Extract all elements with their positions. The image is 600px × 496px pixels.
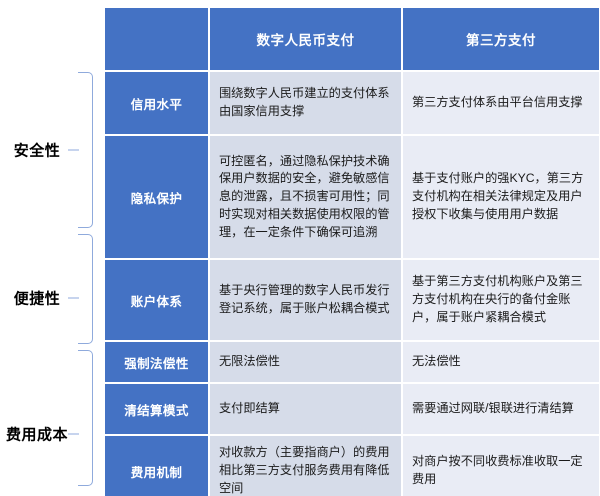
table-row: 隐私保护 可控匿名，通过隐私保护技术确保用户数据的安全，避免敏感信息的泄露，且不…	[105, 136, 599, 258]
row-key-credit-level: 信用水平	[105, 72, 208, 134]
table-header-corner	[105, 8, 208, 70]
row-value-dcep: 对收款方（主要指商户）的费用相比第三方支付服务费用有降低空间	[210, 436, 401, 496]
bracket-convenience	[78, 234, 93, 344]
row-value-dcep: 无限法偿性	[210, 342, 401, 382]
comparison-table: 数字人民币支付 第三方支付 信用水平 围绕数字人民币建立的支付体系由国家信用支撑…	[103, 6, 600, 496]
row-value-thirdparty: 无法偿性	[403, 342, 599, 382]
table-row: 强制法偿性 无限法偿性 无法偿性	[105, 342, 599, 382]
row-key-legal-tender: 强制法偿性	[105, 342, 208, 382]
row-value-dcep: 基于央行管理的数字人民币发行登记系统，属于账户松耦合模式	[210, 260, 401, 340]
row-key-account-system: 账户体系	[105, 260, 208, 340]
row-value-thirdparty: 对商户按不同收费标准收取一定费用	[403, 436, 599, 496]
table-header-row: 数字人民币支付 第三方支付	[105, 8, 599, 70]
table-row: 费用机制 对收款方（主要指商户）的费用相比第三方支付服务费用有降低空间 对商户按…	[105, 436, 599, 496]
bracket-tick-convenience	[68, 298, 79, 299]
table-row: 账户体系 基于央行管理的数字人民币发行登记系统，属于账户松耦合模式 基于第三方支…	[105, 260, 599, 340]
bracket-security	[78, 72, 93, 228]
bracket-cost	[78, 350, 93, 486]
row-value-dcep: 可控匿名，通过隐私保护技术确保用户数据的安全，避免敏感信息的泄露，且不损害可用性…	[210, 136, 401, 258]
bracket-tick-security	[68, 150, 79, 151]
row-value-thirdparty: 基于支付账户的强KYC，第三方支付机构在相关法律规定及用户授权下收集与使用用户数…	[403, 136, 599, 258]
row-value-thirdparty: 需要通过网联/银联进行清结算	[403, 384, 599, 434]
row-key-fee-mechanism: 费用机制	[105, 436, 208, 496]
row-value-thirdparty: 基于第三方支付机构账户及第三方支付机构在央行的备付金账户，属于账户紧耦合模式	[403, 260, 599, 340]
table-row: 清结算模式 支付即结算 需要通过网联/银联进行清结算	[105, 384, 599, 434]
comparison-infographic: 安全性 便捷性 费用成本 数字人民币支付 第三方支付	[0, 0, 600, 496]
row-key-clearing-mode: 清结算模式	[105, 384, 208, 434]
table-header-dcep: 数字人民币支付	[210, 8, 401, 70]
category-label-convenience: 便捷性	[6, 288, 68, 309]
category-label-security: 安全性	[6, 140, 68, 161]
table-row: 信用水平 围绕数字人民币建立的支付体系由国家信用支撑 第三方支付体系由平台信用支…	[105, 72, 599, 134]
category-label-cost: 费用成本	[2, 424, 72, 445]
row-value-dcep: 围绕数字人民币建立的支付体系由国家信用支撑	[210, 72, 401, 134]
table-header-thirdparty: 第三方支付	[403, 8, 599, 70]
row-key-privacy: 隐私保护	[105, 136, 208, 258]
row-value-thirdparty: 第三方支付体系由平台信用支撑	[403, 72, 599, 134]
row-value-dcep: 支付即结算	[210, 384, 401, 434]
category-group-area: 安全性 便捷性 费用成本	[0, 0, 103, 496]
